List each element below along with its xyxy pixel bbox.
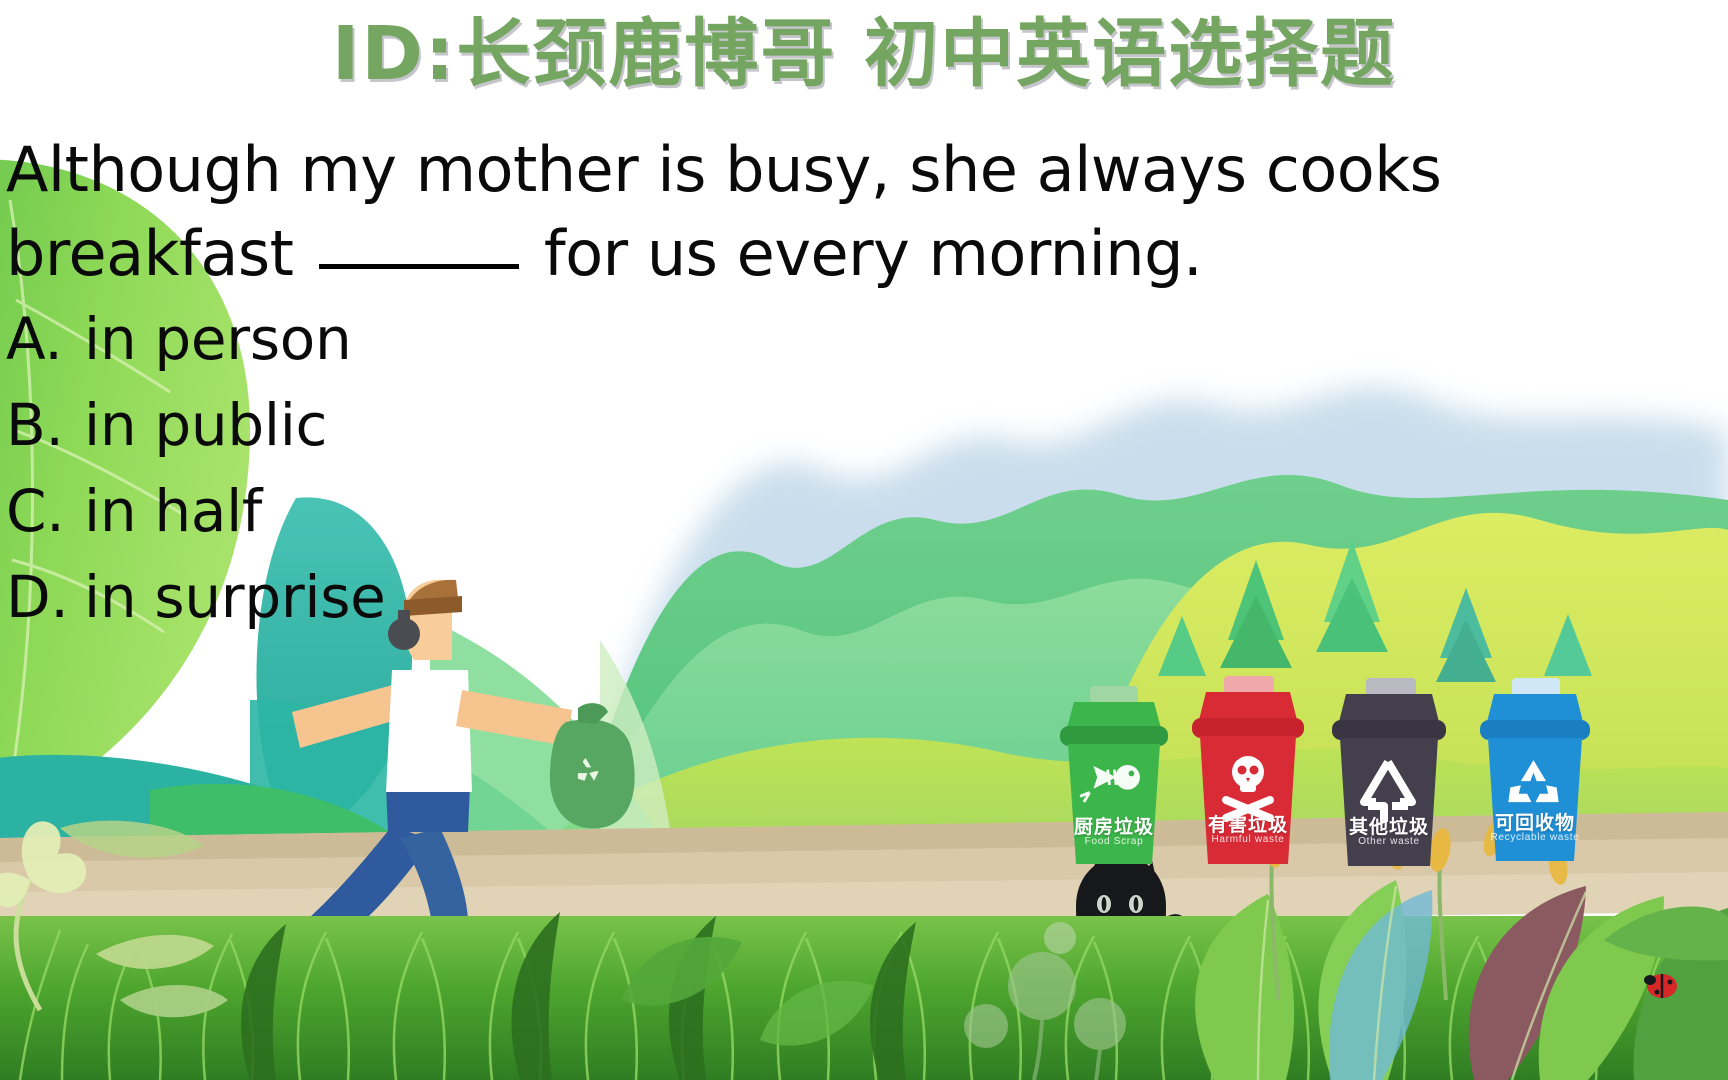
bin-label-en: Food Scrap (1056, 836, 1172, 847)
bin-label-cn: 其他垃圾 (1328, 812, 1450, 839)
bin-top-plate (1366, 678, 1416, 696)
option-b-text: in public (84, 391, 327, 459)
question-line-2: breakfast for us every morning. (6, 212, 1506, 296)
left-plant (0, 821, 228, 1018)
answer-blank (319, 228, 519, 269)
question-line-1: Although my mother is busy, she always c… (6, 128, 1506, 212)
option-c[interactable]: C.in half (6, 468, 1506, 554)
bin-food-scrap: 厨房垃圾 Food Scrap (1056, 686, 1172, 866)
bin-label-en: Other waste (1328, 836, 1450, 847)
bin-label-cn: 可回收物 (1476, 808, 1594, 835)
option-d-text: in surprise (84, 563, 386, 631)
option-d[interactable]: D.in surprise (6, 554, 1506, 640)
option-a-label: A. (6, 296, 84, 382)
question-block: Although my mother is busy, she always c… (6, 128, 1506, 640)
option-a[interactable]: A.in person (6, 296, 1506, 382)
option-b[interactable]: B.in public (6, 382, 1506, 468)
black-cat-figure (1076, 856, 1191, 990)
trash-bag (550, 703, 635, 828)
bin-label-cn: 厨房垃圾 (1056, 812, 1172, 839)
option-c-text: in half (84, 477, 262, 545)
bin-label-en: Harmful waste (1188, 834, 1308, 845)
question-text-after-blank: for us every morning. (544, 217, 1202, 290)
option-c-label: C. (6, 468, 84, 554)
option-a-text: in person (84, 305, 351, 373)
bin-recyclable: 可回收物 Recyclable waste (1476, 678, 1594, 863)
option-b-label: B. (6, 382, 84, 468)
bin-harmful-waste: 有害垃圾 Harmful waste (1188, 676, 1308, 866)
question-text-before-blank: breakfast (6, 217, 293, 290)
bin-label-cn: 有害垃圾 (1188, 810, 1308, 837)
option-d-label: D. (6, 554, 84, 640)
bin-other-waste: 其他垃圾 Other waste (1328, 678, 1450, 868)
bin-top-plate (1512, 678, 1560, 696)
bin-top-plate (1224, 676, 1274, 694)
ladybug (1644, 974, 1677, 998)
bin-top-plate (1090, 686, 1138, 704)
page-title: ID:长颈鹿博哥 初中英语选择题 (0, 0, 1728, 101)
bin-label-en: Recyclable waste (1476, 832, 1594, 843)
slide-canvas: 厨房垃圾 Food Scrap 有害垃圾 Harmful waste (0, 0, 1728, 1080)
